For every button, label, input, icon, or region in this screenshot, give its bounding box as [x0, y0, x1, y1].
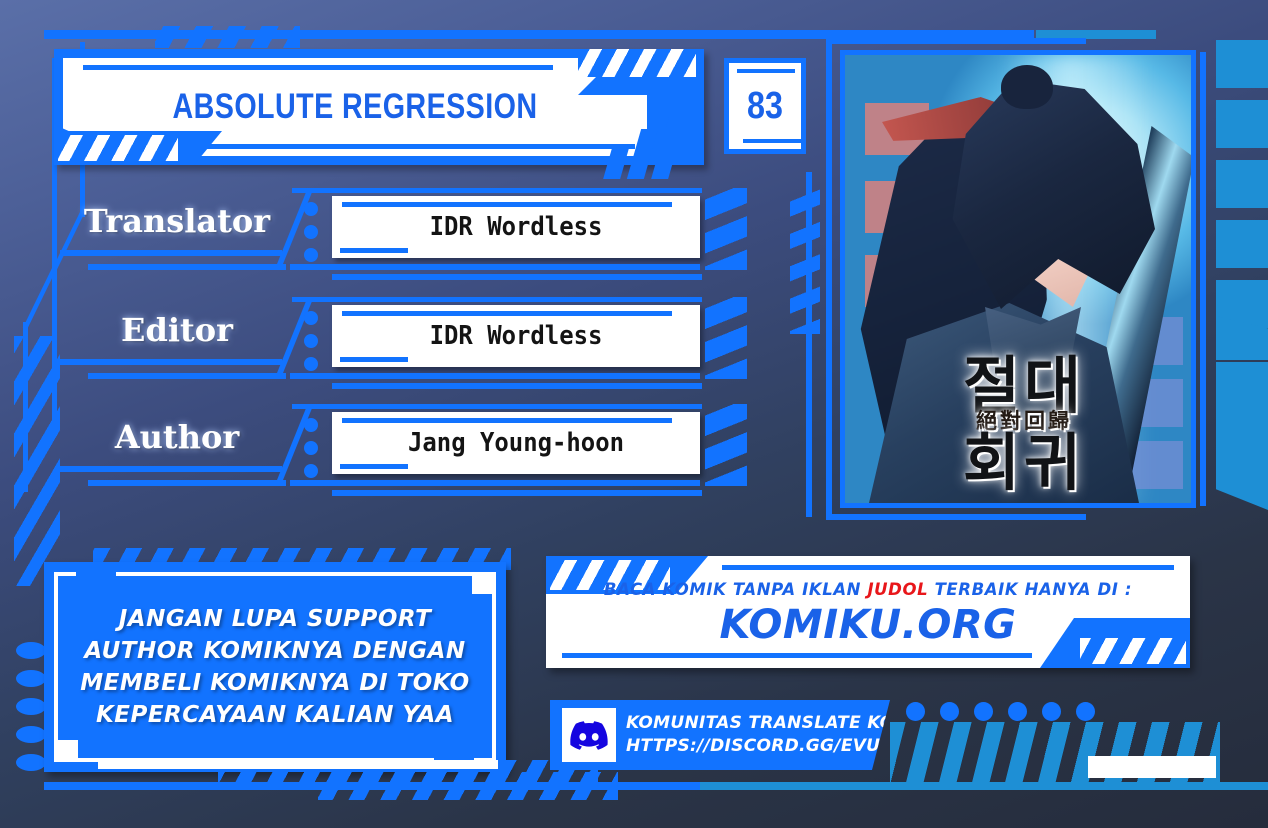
bottom-dot	[1008, 702, 1027, 721]
credit-right-slashes	[705, 404, 747, 486]
credit-value-box: IDR Wordless	[332, 305, 700, 367]
credit-label: Translator	[68, 202, 286, 240]
credit-right-slashes	[705, 188, 747, 270]
credit-bottom-line	[290, 373, 700, 379]
credit-label-underline-1	[60, 359, 282, 365]
cover-character-topknot	[1001, 65, 1053, 109]
credit-label-underline-2	[88, 264, 286, 270]
credit-dots	[304, 202, 318, 271]
left-rail-stripe-column	[14, 336, 60, 586]
komiku-banner-bottom-line	[562, 653, 1032, 658]
bottom-border-cyan-line	[700, 782, 1268, 790]
credit-label: Editor	[68, 311, 286, 349]
left-rail-dot	[16, 726, 46, 743]
right-rail-tall-block	[1216, 362, 1268, 510]
left-rail-dot	[16, 754, 46, 771]
bottom-dot	[1042, 702, 1061, 721]
credit-row-author: Author Jang Young-hoon	[60, 404, 720, 504]
chapter-number-badge: 83	[724, 58, 806, 154]
credit-bottom-line	[290, 264, 700, 270]
cover-title-kr-line2: 회귀	[874, 434, 1174, 493]
title-corner-wedge	[578, 77, 696, 95]
komiku-promo-banner[interactable]: BACA KOMIK TANPA IKLAN JUDOL TERBAIK HAN…	[546, 556, 1190, 668]
left-rail-dot	[16, 642, 46, 659]
credit-top-line	[292, 188, 702, 193]
credit-value-box: Jang Young-hoon	[332, 412, 700, 474]
credit-right-slashes	[705, 297, 747, 379]
credit-dots	[304, 311, 318, 380]
credit-dots	[304, 418, 318, 487]
cover-image: 절대 絕對回歸 회귀	[840, 50, 1196, 508]
title-slant-bar	[603, 145, 630, 179]
title-banner: ABSOLUTE REGRESSION	[54, 49, 704, 165]
support-line-2: AUTHOR KOMIKNYA DENGAN	[84, 638, 465, 664]
bottom-dot	[906, 702, 925, 721]
credit-label-underline-1	[60, 250, 282, 256]
credit-label-underline-1	[60, 466, 282, 472]
cover-title-korean: 절대 絕對回歸 회귀	[874, 357, 1174, 493]
chapter-number: 83	[734, 63, 795, 149]
credit-value-box: IDR Wordless	[332, 196, 700, 258]
cover-artwork: 절대 絕對回歸 회귀	[845, 55, 1191, 503]
credit-bottom-line-2	[332, 274, 702, 280]
komiku-tagline-before: BACA KOMIK TANPA IKLAN	[604, 580, 868, 599]
support-message-box: JANGAN LUPA SUPPORT AUTHOR KOMIKNYA DENG…	[44, 562, 506, 772]
left-rail-dot	[16, 670, 46, 687]
right-rail-block	[1216, 40, 1268, 88]
cover-frame-outer-left	[826, 38, 832, 520]
credit-value: IDR Wordless	[347, 196, 686, 258]
komiku-tagline-highlight: JUDOL	[867, 580, 928, 599]
left-rail-dot	[16, 698, 46, 715]
right-rail-line-2	[1200, 356, 1206, 506]
right-rail-block	[1216, 220, 1268, 268]
support-line-1: JANGAN LUPA SUPPORT	[119, 606, 432, 632]
discord-icon	[562, 708, 616, 762]
komiku-url[interactable]: KOMIKU.ORG	[546, 602, 1190, 648]
cover-title-kr-line1: 절대	[874, 357, 1174, 416]
title-slant-bars	[602, 111, 694, 179]
middle-divider-slashes	[790, 186, 820, 334]
credit-label-underline-2	[88, 373, 286, 379]
title-corner-stripes	[578, 49, 696, 77]
credit-bottom-line	[290, 480, 700, 486]
bottom-dot	[1076, 702, 1095, 721]
top-border-stripes	[155, 26, 300, 48]
cover-frame-outer-bottom	[826, 514, 1086, 520]
title-bottomleft-wedge	[54, 131, 222, 165]
support-line-3: MEMBELI KOMIKNYA DI TOKO	[80, 670, 469, 696]
credit-value: Jang Young-hoon	[347, 412, 686, 474]
credit-label: Author	[68, 418, 286, 456]
komiku-banner-top-line	[722, 565, 1174, 570]
credit-row-translator: Translator IDR Wordless	[60, 188, 720, 288]
credit-label-underline-2	[88, 480, 286, 486]
credit-top-line	[292, 404, 702, 409]
credit-value: IDR Wordless	[347, 305, 686, 367]
support-line-4: KEPERCAYAAN KALIAN YAA	[96, 702, 454, 728]
title-bottomleft-stripes	[58, 135, 178, 161]
bottom-dot	[940, 702, 959, 721]
credit-row-editor: Editor IDR Wordless	[60, 297, 720, 397]
cover-frame-outer-top	[826, 38, 1086, 44]
bottom-dot	[974, 702, 993, 721]
support-message-text: JANGAN LUPA SUPPORT AUTHOR KOMIKNYA DENG…	[44, 562, 506, 772]
right-rail-block	[1216, 100, 1268, 148]
bottom-right-white-bar	[1088, 756, 1216, 778]
credit-top-line	[292, 297, 702, 302]
komiku-tagline: BACA KOMIK TANPA IKLAN JUDOL TERBAIK HAN…	[546, 580, 1190, 599]
credit-bottom-line-2	[332, 490, 702, 496]
bottom-white-line	[98, 760, 498, 769]
komiku-tagline-after: TERBAIK HANYA DI :	[928, 580, 1132, 599]
title-slant-bar	[651, 117, 686, 179]
right-rail-block	[1216, 160, 1268, 208]
discord-invite-bar[interactable]: KOMUNITAS TRANSLATE KOMIK HTTPS://DISCOR…	[550, 700, 890, 770]
credit-bottom-line-2	[332, 383, 702, 389]
